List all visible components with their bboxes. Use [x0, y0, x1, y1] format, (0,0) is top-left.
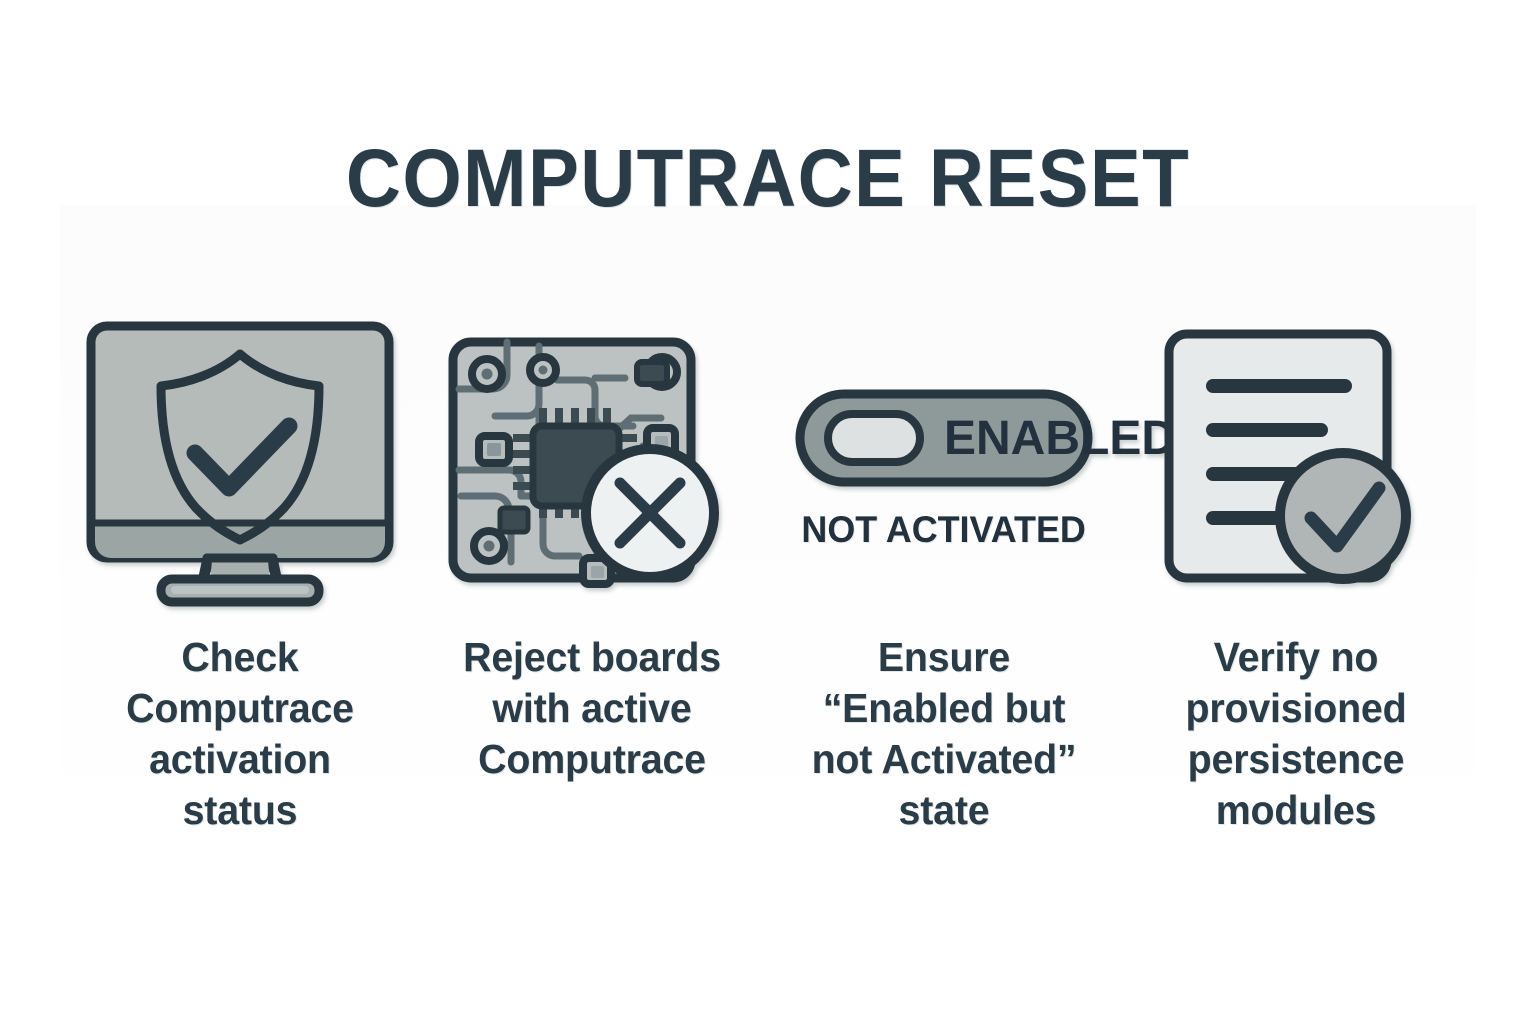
page-title: COMPUTRACE RESET: [54, 133, 1482, 225]
toggle-group: ENABLED NOT ACTIVATED: [779, 388, 1109, 550]
monitor-stand-base-highlight: [171, 586, 309, 594]
circuit-board-reject-icon: [447, 320, 737, 595]
step-2: Reject boards with active Computrace: [416, 320, 768, 785]
step-4: Verify no provisioned persistence module…: [1120, 320, 1472, 836]
verify-badge-circle: [1280, 453, 1406, 579]
step-4-caption: Verify no provisioned persistence module…: [1152, 632, 1440, 836]
toggle-knob[interactable]: [828, 414, 920, 462]
toggle-enabled-icon[interactable]: ENABLED: [794, 388, 1094, 488]
step-1-caption: Check Computrace activation status: [96, 632, 384, 836]
step-2-art: [427, 320, 757, 620]
status-label: NOT ACTIVATED: [802, 510, 1086, 550]
step-1: Check Computrace activation status: [64, 320, 416, 836]
monitor-shield-check-icon: [85, 320, 395, 605]
step-3-art: ENABLED NOT ACTIVATED: [779, 320, 1109, 620]
infographic-page: COMPUTRACE RESET: [0, 0, 1536, 1024]
step-3: ENABLED NOT ACTIVATED Ensure “Enabled bu…: [768, 320, 1120, 836]
step-2-caption: Reject boards with active Computrace: [448, 632, 736, 785]
step-1-art: [75, 320, 405, 620]
step-3-caption: Ensure “Enabled but not Activated” state: [800, 632, 1088, 836]
steps-row: Check Computrace activation status: [0, 320, 1536, 836]
step-4-art: [1131, 320, 1461, 620]
document-check-icon: [1161, 320, 1431, 595]
